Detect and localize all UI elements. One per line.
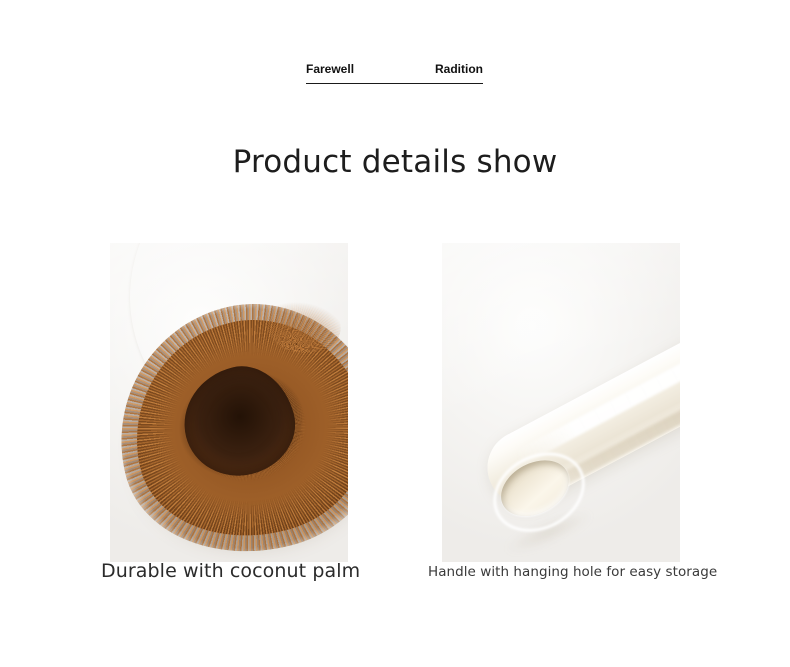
page-title: Product details show	[0, 141, 790, 183]
eyebrow-row: Farewell Radition	[306, 62, 483, 83]
gallery-photo-handle-hanging-hole	[442, 243, 680, 562]
detail-gallery	[70, 227, 720, 546]
caption-hanging-hole: Handle with hanging hole for easy storag…	[428, 562, 717, 582]
eyebrow-word-left: Farewell	[306, 62, 354, 76]
handle-assembly	[473, 262, 680, 562]
eyebrow-block: Farewell Radition	[306, 62, 483, 84]
gallery-captions: Durable with coconut palm Handle with ha…	[70, 558, 720, 592]
eyebrow-divider	[306, 83, 483, 84]
eyebrow-word-right: Radition	[435, 62, 483, 76]
gallery-photo-coconut-palm-brush	[110, 243, 348, 562]
caption-coconut-palm: Durable with coconut palm	[101, 558, 360, 584]
